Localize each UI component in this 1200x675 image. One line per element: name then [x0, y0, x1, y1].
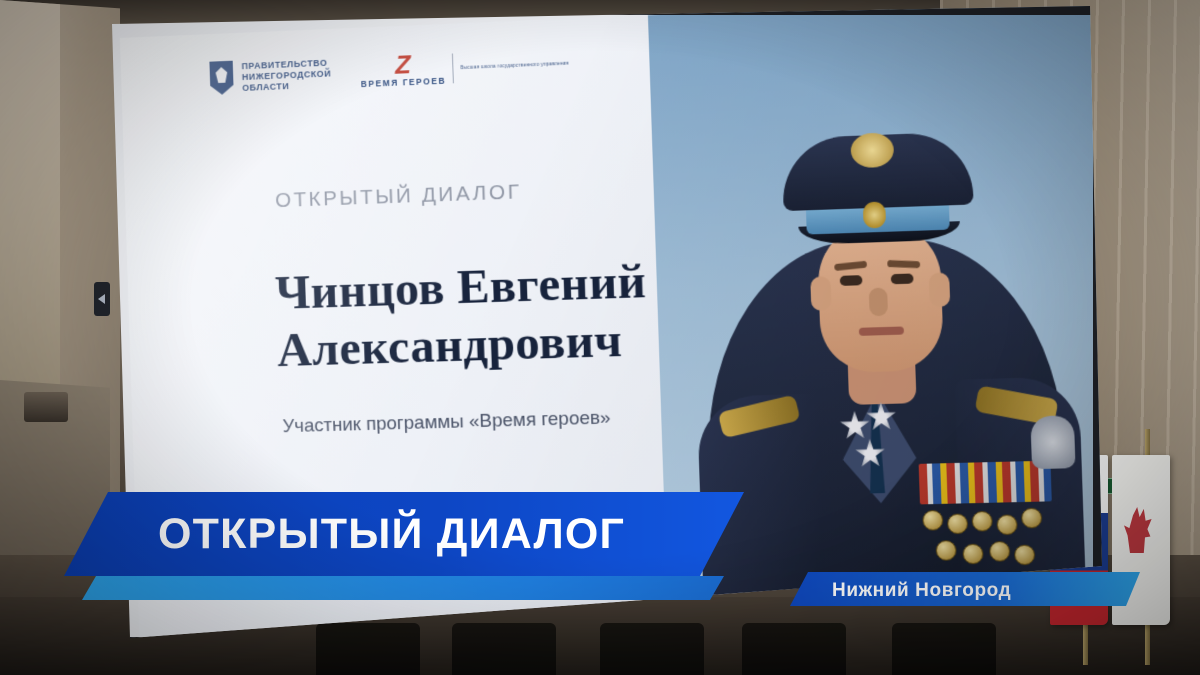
wall-speaker — [24, 392, 68, 422]
location-label: Нижний Новгород — [832, 580, 1011, 602]
lower-third-banner-stripe — [64, 576, 724, 600]
flag-nizhny-novgorod-region — [1118, 455, 1176, 633]
chair — [892, 623, 996, 675]
deer-emblem-icon — [1124, 507, 1154, 553]
chair — [742, 623, 846, 675]
lower-third-title: ОТКРЫТЫЙ ДИАЛОГ — [158, 510, 758, 559]
left-wall-panel-upper — [0, 0, 60, 424]
broadcast-frame: ПРАВИТЕЛЬСТВО НИЖЕГОРОДСКОЙ ОБЛАСТИ Z ВР… — [0, 0, 1200, 675]
chair — [452, 623, 556, 675]
chair — [316, 623, 420, 675]
screen-side-button[interactable] — [94, 282, 110, 316]
chair — [600, 623, 704, 675]
